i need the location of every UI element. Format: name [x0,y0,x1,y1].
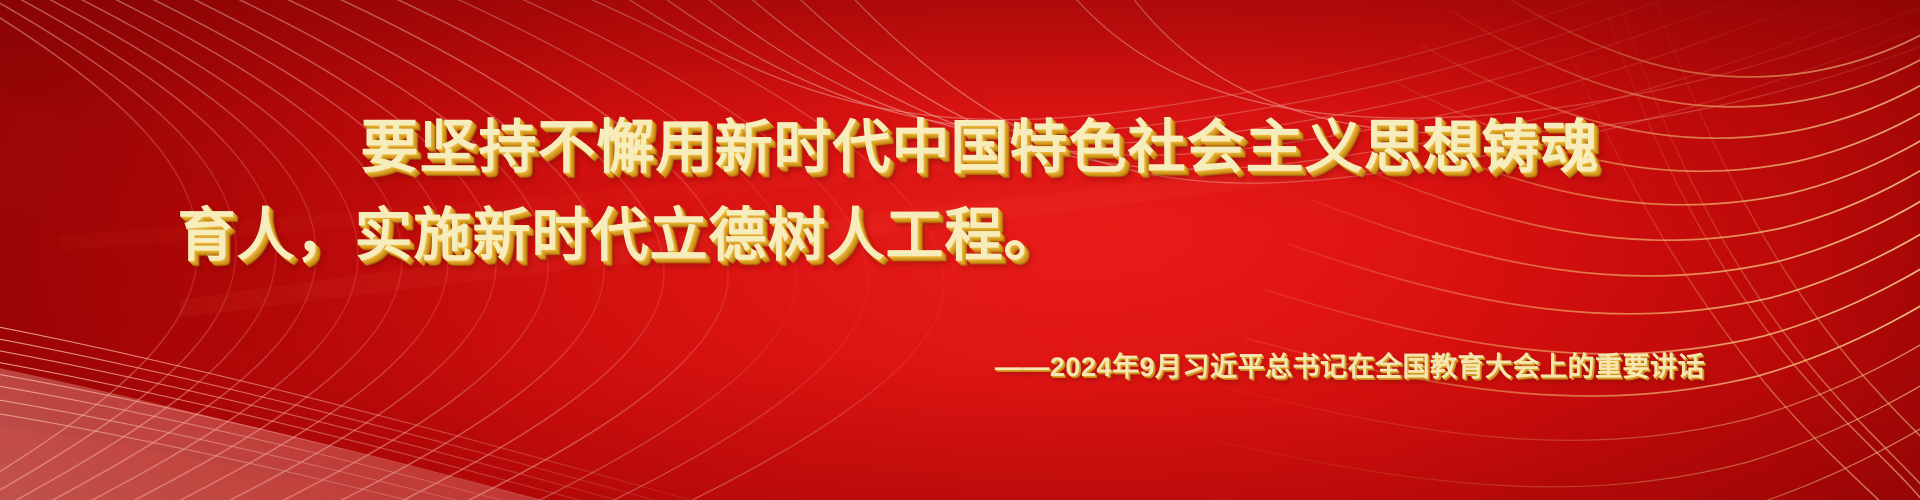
headline-line-2: 育人，实施新时代立德树人工程。 [0,192,1920,280]
attribution-source: ——2024年9月习近平总书记在全国教育大会上的重要讲话 [995,349,1705,385]
headline: 要坚持不懈用新时代中国特色社会主义思想铸魂 育人，实施新时代立德树人工程。 [0,104,1920,280]
banner-content: 要坚持不懈用新时代中国特色社会主义思想铸魂 育人，实施新时代立德树人工程。 ——… [0,0,1920,500]
headline-line-1: 要坚持不懈用新时代中国特色社会主义思想铸魂 [0,104,1920,192]
propaganda-banner: 要坚持不懈用新时代中国特色社会主义思想铸魂 育人，实施新时代立德树人工程。 ——… [0,0,1920,500]
